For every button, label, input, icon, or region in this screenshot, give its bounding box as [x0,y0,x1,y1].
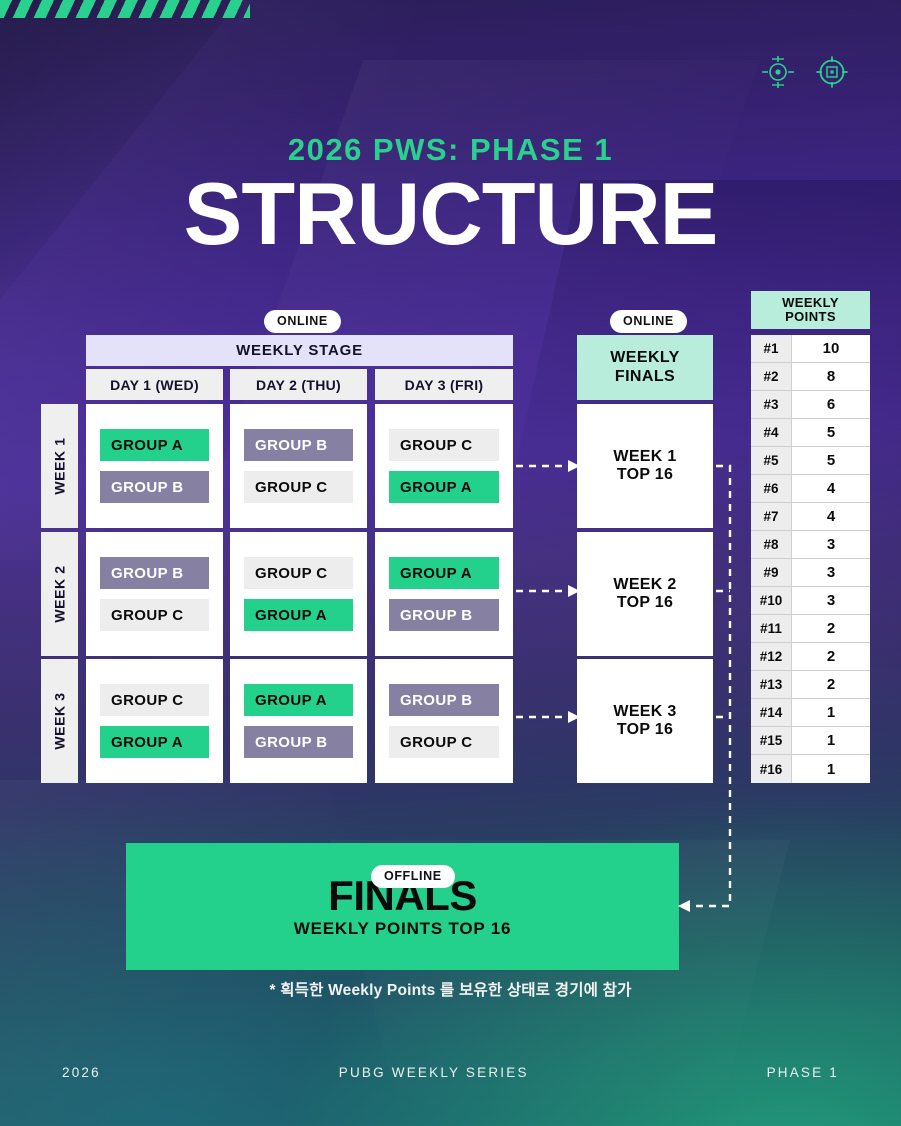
weekly-finals-title-line1: WEEKLY [610,349,679,367]
weekly-points-row: #83 [751,531,870,559]
badge-online-finals: ONLINE [610,310,687,333]
group-chip: GROUP B [389,599,499,631]
weekly-finals-box-3: WEEK 3 TOP 16 [577,659,713,783]
weekly-finals-box-2-line1: WEEK 2 [613,576,676,594]
finals-subtitle: WEEKLY POINTS TOP 16 [294,919,512,939]
weekly-points-value: 2 [792,643,870,670]
cell-week1-day3: GROUP C GROUP A [375,404,513,528]
weekly-points-title: WEEKLY POINTS [751,291,870,329]
weekly-points-row: #122 [751,643,870,671]
group-chip: GROUP C [389,429,499,461]
weekly-finals-title-line2: FINALS [615,368,675,386]
weekly-points-value: 6 [792,391,870,418]
weekly-points-value: 1 [792,755,870,783]
weekly-finals-box-1: WEEK 1 TOP 16 [577,404,713,528]
weekly-points-value: 2 [792,671,870,698]
weekly-points-value: 5 [792,419,870,446]
weekly-points-rank: #15 [751,727,792,754]
weekly-points-rank: #12 [751,643,792,670]
weekly-points-value: 3 [792,531,870,558]
cell-week1-day2: GROUP B GROUP C [230,404,367,528]
weekly-points-row: #151 [751,727,870,755]
week-label-3-text: WEEK 3 [52,692,68,749]
weekly-points-row: #161 [751,755,870,783]
weekly-points-rank: #5 [751,447,792,474]
weekly-points-row: #55 [751,447,870,475]
group-chip: GROUP B [244,429,353,461]
cell-week3-day2: GROUP A GROUP B [230,659,367,783]
footer: 2026 PUBG WEEKLY SERIES PHASE 1 [62,1065,839,1080]
cell-week3-day3: GROUP B GROUP C [375,659,513,783]
footnote: * 획득한 Weekly Points 를 보유한 상태로 경기에 참가 [0,978,901,1000]
weekly-points-value: 1 [792,699,870,726]
day-header-3: DAY 3 (FRI) [375,369,513,400]
weekly-points-row: #28 [751,363,870,391]
day-header-2: DAY 2 (THU) [230,369,367,400]
crosshair-icon [761,55,795,89]
weekly-points-value: 10 [792,335,870,362]
weekly-points-rank: #13 [751,671,792,698]
finals-banner: FINALS WEEKLY POINTS TOP 16 [126,843,679,970]
weekly-points-value: 8 [792,363,870,390]
weekly-points-rank: #14 [751,699,792,726]
group-chip: GROUP A [100,429,209,461]
weekly-points-rank: #2 [751,363,792,390]
page-kicker: 2026 PWS: PHASE 1 [0,132,901,168]
poster-root: 2026 PWS: PHASE 1 STRUCTURE ONLINE WEEKL… [0,0,901,1126]
cell-week3-day1: GROUP C GROUP A [86,659,223,783]
weekly-points-title-line1: WEEKLY [782,296,839,310]
week-label-2-text: WEEK 2 [52,565,68,622]
diagonal-stripes-icon [0,0,250,18]
page-title: STRUCTURE [0,170,901,258]
cell-week2-day2: GROUP C GROUP A [230,532,367,656]
badge-online-stage: ONLINE [264,310,341,333]
weekly-points-row: #112 [751,615,870,643]
weekly-points-rank: #10 [751,587,792,614]
group-chip: GROUP C [244,557,353,589]
group-chip: GROUP C [100,684,209,716]
weekly-finals-box-3-line1: WEEK 3 [613,703,676,721]
group-chip: GROUP B [244,726,353,758]
weekly-points-row: #103 [751,587,870,615]
weekly-points-row: #93 [751,559,870,587]
weekly-points-rank: #3 [751,391,792,418]
day-header-1: DAY 1 (WED) [86,369,223,400]
group-chip: GROUP A [389,557,499,589]
weekly-points-value: 2 [792,615,870,642]
target-icon [815,55,849,89]
weekly-points-value: 5 [792,447,870,474]
week-label-1-text: WEEK 1 [52,437,68,494]
weekly-finals-box-2-line2: TOP 16 [617,594,673,612]
weekly-finals-box-1-line1: WEEK 1 [613,448,676,466]
weekly-points-rank: #7 [751,503,792,530]
cell-week2-day1: GROUP B GROUP C [86,532,223,656]
weekly-points-value: 3 [792,587,870,614]
weekly-points-row: #36 [751,391,870,419]
weekly-points-rank: #9 [751,559,792,586]
group-chip: GROUP C [244,471,353,503]
weekly-points-value: 3 [792,559,870,586]
weekly-points-value: 4 [792,475,870,502]
weekly-points-row: #64 [751,475,870,503]
weekly-points-rank: #4 [751,419,792,446]
weekly-points-value: 1 [792,727,870,754]
weekly-finals-box-3-line2: TOP 16 [617,721,673,739]
weekly-points-row: #141 [751,699,870,727]
badge-offline-finals: OFFLINE [371,865,455,888]
footer-phase: PHASE 1 [767,1065,839,1080]
weekly-points-title-line2: POINTS [785,310,836,324]
weekly-points-rank: #11 [751,615,792,642]
group-chip: GROUP A [389,471,499,503]
weekly-finals-title: WEEKLY FINALS [577,335,713,400]
group-chip: GROUP A [244,684,353,716]
group-chip: GROUP B [389,684,499,716]
footer-series: PUBG WEEKLY SERIES [339,1065,529,1080]
reticle-icon-group [761,55,849,89]
footer-year: 2026 [62,1065,101,1080]
group-chip: GROUP B [100,471,209,503]
weekly-points-row: #110 [751,335,870,363]
weekly-finals-box-2: WEEK 2 TOP 16 [577,532,713,656]
weekly-points-value: 4 [792,503,870,530]
group-chip: GROUP A [100,726,209,758]
week-label-3: WEEK 3 [41,659,78,783]
weekly-points-rank: #8 [751,531,792,558]
group-chip: GROUP B [100,557,209,589]
group-chip: GROUP C [389,726,499,758]
cell-week2-day3: GROUP A GROUP B [375,532,513,656]
weekly-points-rank: #6 [751,475,792,502]
group-chip: GROUP A [244,599,353,631]
weekly-stage-title: WEEKLY STAGE [86,335,513,366]
cell-week1-day1: GROUP A GROUP B [86,404,223,528]
group-chip: GROUP C [100,599,209,631]
weekly-points-row: #132 [751,671,870,699]
weekly-points-row: #45 [751,419,870,447]
week-label-2: WEEK 2 [41,532,78,656]
weekly-points-rank: #1 [751,335,792,362]
week-label-1: WEEK 1 [41,404,78,528]
weekly-points-table: #110#28#36#45#55#64#74#83#93#103#112#122… [751,335,870,783]
weekly-points-rank: #16 [751,755,792,783]
weekly-finals-box-1-line2: TOP 16 [617,466,673,484]
weekly-points-row: #74 [751,503,870,531]
